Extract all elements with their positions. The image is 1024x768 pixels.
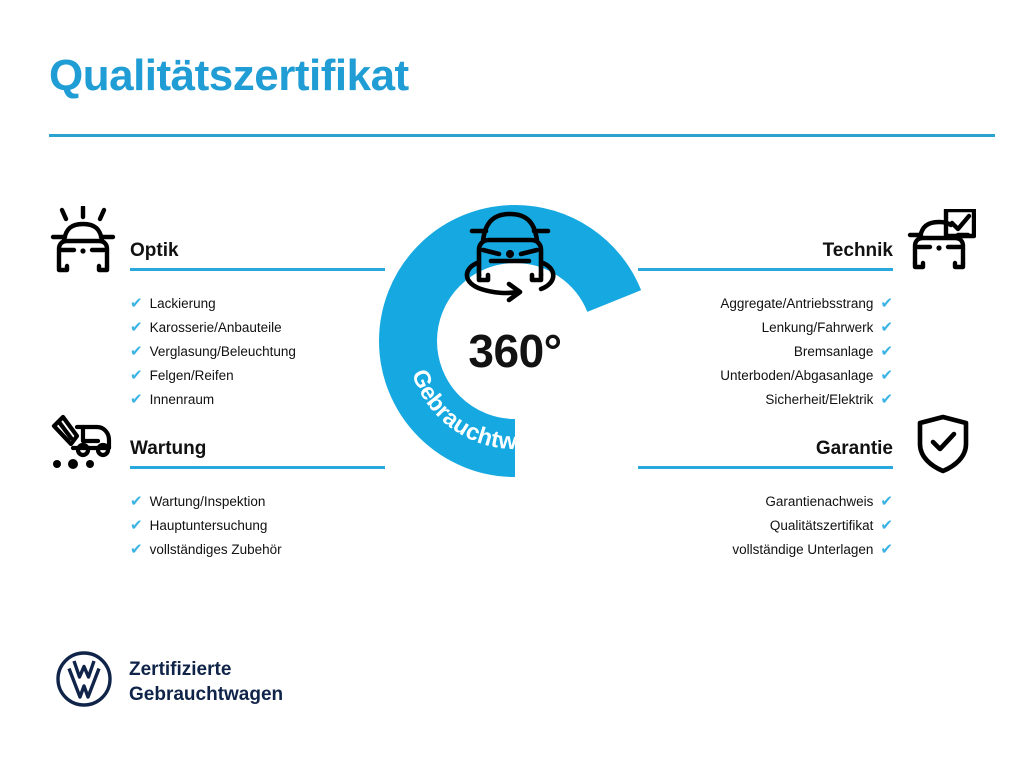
- check-icon: ✔: [880, 364, 893, 388]
- list-item: ✔ Hauptuntersuchung: [130, 514, 385, 538]
- vw-logo-text: Zertifizierte Gebrauchtwagen: [129, 657, 283, 707]
- list-item: Qualitätszertifikat ✔: [638, 514, 893, 538]
- list-item: Lenkung/Fahrwerk ✔: [638, 316, 893, 340]
- section-wartung-title: Wartung: [130, 436, 385, 462]
- list-item-label: Lackierung: [150, 292, 216, 316]
- list-item-label: Felgen/Reifen: [150, 364, 234, 388]
- check-icon: ✔: [880, 316, 893, 340]
- list-item-label: Aggregate/Antriebsstrang: [720, 292, 873, 316]
- list-item: ✔ Felgen/Reifen: [130, 364, 385, 388]
- list-item-label: Wartung/Inspektion: [150, 490, 266, 514]
- list-item: Unterboden/Abgasanlage ✔: [638, 364, 893, 388]
- list-item: ✔ Wartung/Inspektion: [130, 490, 385, 514]
- section-optik-header: Optik: [130, 238, 385, 278]
- vw-logo-line2: Gebrauchtwagen: [129, 682, 283, 707]
- vw-logo-line1: Zertifizierte: [129, 657, 283, 682]
- list-item: Sicherheit/Elektrik ✔: [638, 388, 893, 412]
- list-item-label: Bremsanlage: [794, 340, 874, 364]
- section-technik-divider: [638, 268, 893, 271]
- list-item: ✔ Verglasung/Beleuchtung: [130, 340, 385, 364]
- section-wartung-divider: [130, 466, 385, 469]
- list-item-label: Unterboden/Abgasanlage: [720, 364, 873, 388]
- list-item: Garantienachweis ✔: [638, 490, 893, 514]
- list-item-label: Hauptuntersuchung: [150, 514, 268, 538]
- list-item-label: vollständiges Zubehör: [150, 538, 282, 562]
- section-technik-title: Technik: [638, 238, 893, 264]
- list-item: ✔ Karosserie/Anbauteile: [130, 316, 385, 340]
- check-icon: ✔: [130, 292, 143, 316]
- section-garantie-list: Garantienachweis ✔ Qualitätszertifikat ✔…: [638, 490, 893, 562]
- section-wartung-list: ✔ Wartung/Inspektion ✔ Hauptuntersuchung…: [130, 490, 385, 562]
- list-item-label: vollständige Unterlagen: [732, 538, 873, 562]
- list-item: ✔ vollständiges Zubehör: [130, 538, 385, 562]
- check-icon: ✔: [880, 490, 893, 514]
- check-icon: ✔: [880, 514, 893, 538]
- certificate-page: Qualitätszertifikat Op: [0, 0, 1024, 768]
- check-icon: ✔: [880, 340, 893, 364]
- check-icon: ✔: [880, 538, 893, 562]
- car-service-tool-icon: [47, 414, 119, 477]
- shield-check-icon: [916, 414, 970, 479]
- section-technik-header: Technik: [638, 238, 893, 278]
- list-item-label: Innenraum: [150, 388, 215, 412]
- list-item: Bremsanlage ✔: [638, 340, 893, 364]
- section-optik-title: Optik: [130, 238, 385, 264]
- page-title: Qualitätszertifikat: [49, 52, 409, 100]
- list-item: vollständige Unterlagen ✔: [638, 538, 893, 562]
- list-item: Aggregate/Antriebsstrang ✔: [638, 292, 893, 316]
- car-rotation-icon: [455, 199, 565, 303]
- list-item-label: Verglasung/Beleuchtung: [150, 340, 296, 364]
- list-item-label: Qualitätszertifikat: [770, 514, 874, 538]
- section-optik-list: ✔ Lackierung ✔ Karosserie/Anbauteile ✔ V…: [130, 292, 385, 412]
- list-item-label: Sicherheit/Elektrik: [765, 388, 873, 412]
- section-garantie-title: Garantie: [638, 436, 893, 462]
- check-icon: ✔: [130, 538, 143, 562]
- section-optik: Optik ✔ Lackierung ✔ Karosserie/Anbautei…: [130, 238, 385, 412]
- check-icon: ✔: [130, 514, 143, 538]
- section-garantie-divider: [638, 466, 893, 469]
- check-icon: ✔: [880, 388, 893, 412]
- list-item: ✔ Lackierung: [130, 292, 385, 316]
- check-icon: ✔: [880, 292, 893, 316]
- car-shine-icon: [47, 206, 119, 279]
- header-divider: [49, 134, 995, 137]
- section-garantie: Garantie Garantienachweis ✔ Qualitätszer…: [638, 436, 893, 562]
- section-wartung-header: Wartung: [130, 436, 385, 476]
- vw-logo-icon: [55, 650, 113, 713]
- check-icon: ✔: [130, 364, 143, 388]
- section-technik-list: Aggregate/Antriebsstrang ✔ Lenkung/Fahrw…: [638, 292, 893, 412]
- list-item-label: Lenkung/Fahrwerk: [762, 316, 874, 340]
- check-icon: ✔: [130, 388, 143, 412]
- check-icon: ✔: [130, 340, 143, 364]
- section-optik-divider: [130, 268, 385, 271]
- check-icon: ✔: [130, 316, 143, 340]
- section-garantie-header: Garantie: [638, 436, 893, 476]
- list-item: ✔ Innenraum: [130, 388, 385, 412]
- section-wartung: Wartung ✔ Wartung/Inspektion ✔ Hauptunte…: [130, 436, 385, 562]
- list-item-label: Garantienachweis: [765, 490, 873, 514]
- list-item-label: Karosserie/Anbauteile: [150, 316, 282, 340]
- check-icon: ✔: [130, 490, 143, 514]
- vw-certified-logo: Zertifizierte Gebrauchtwagen: [55, 650, 283, 713]
- car-checkbox-icon: [906, 209, 976, 276]
- section-technik: Technik Aggregate/Antriebsstrang ✔ Lenku…: [638, 238, 893, 412]
